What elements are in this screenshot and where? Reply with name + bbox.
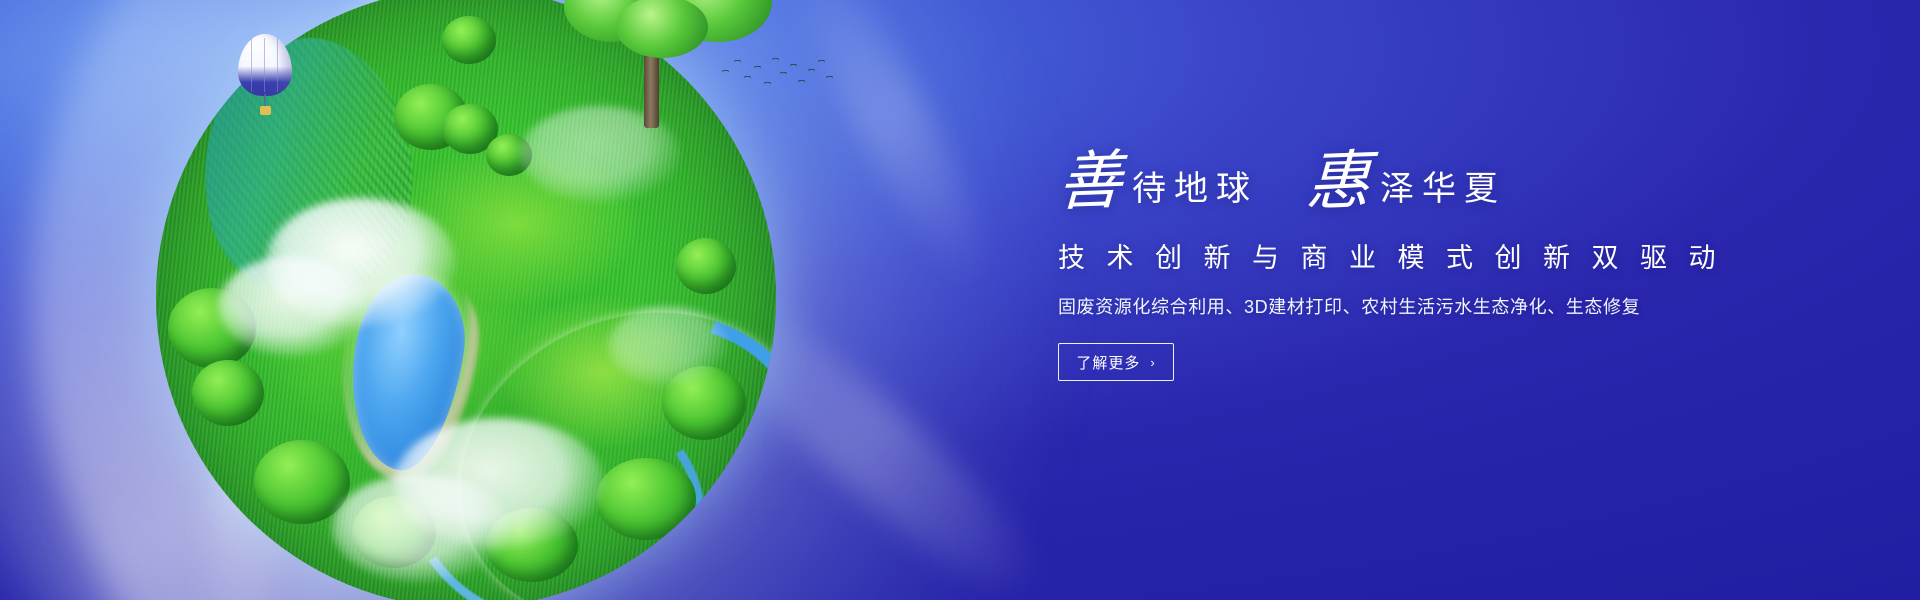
headline-rest-left: 待地球	[1132, 172, 1258, 214]
hero-description: 固废资源化综合利用、3D建材打印、农村生活污水生态净化、生态修复	[1058, 293, 1818, 319]
tree-foliage	[590, 0, 720, 32]
mountain-ridge	[177, 21, 436, 319]
cloud-band	[180, 0, 540, 269]
lake	[337, 267, 474, 477]
cloud-band	[318, 264, 522, 600]
tree-canopy	[192, 360, 264, 426]
tree-canopy	[394, 84, 468, 150]
bird-flock-icon	[718, 52, 838, 100]
surface-cloud	[218, 256, 368, 356]
cloud-band	[194, 0, 446, 561]
page-title: 善 待地球 惠 泽华夏	[1058, 150, 1818, 214]
lake-shore	[326, 255, 490, 491]
surface-cloud	[394, 418, 604, 548]
headline-group-right: 惠 泽华夏	[1306, 150, 1506, 214]
tree-canopy	[486, 508, 578, 582]
tree-trunk	[644, 8, 659, 128]
river	[411, 258, 776, 600]
cloud-band	[770, 0, 1010, 299]
surface-cloud	[608, 306, 728, 386]
river-branch	[380, 347, 732, 600]
chevron-right-icon: ›	[1150, 355, 1155, 370]
balloon-basket	[260, 106, 271, 115]
learn-more-label: 了解更多	[1076, 352, 1140, 373]
sky-glow	[0, 0, 1130, 600]
cloud-band	[191, 117, 329, 600]
tree-canopy	[596, 458, 696, 540]
tree-canopy	[662, 366, 746, 440]
surface-cloud	[266, 198, 456, 326]
tree-canopy	[352, 496, 436, 568]
headline-rest-right: 泽华夏	[1380, 172, 1506, 214]
headline-lead-char-right: 惠	[1305, 149, 1371, 215]
tree-foliage	[664, 0, 772, 42]
surface-cloud	[332, 474, 508, 582]
tree-canopy	[168, 288, 256, 368]
headline-group-left: 善 待地球	[1058, 150, 1258, 214]
tree-canopy	[486, 134, 532, 176]
hero-content: 善 待地球 惠 泽华夏 技 术 创 新 与 商 业 模 式 创 新 双 驱 动 …	[1058, 150, 1818, 381]
tree-foliage	[564, 0, 660, 42]
hot-air-balloon-icon	[238, 34, 292, 118]
surface-cloud	[520, 106, 680, 202]
cloud-band	[158, 0, 482, 416]
tree-foliage	[616, 0, 708, 58]
cloud-swirl-outer	[30, 0, 1110, 600]
tree-canopy	[442, 16, 496, 64]
hero-banner: 善 待地球 惠 泽华夏 技 术 创 新 与 商 业 模 式 创 新 双 驱 动 …	[0, 0, 1920, 600]
cloud-band	[669, 258, 1071, 600]
headline-lead-char-left: 善	[1057, 149, 1123, 215]
balloon-envelope	[238, 34, 292, 96]
learn-more-button[interactable]: 了解更多 ›	[1058, 343, 1174, 381]
tree-canopy	[254, 440, 350, 524]
tree-canopy	[442, 104, 498, 154]
hero-tagline: 技 术 创 新 与 商 业 模 式 创 新 双 驱 动	[1058, 236, 1818, 275]
tree-canopy	[676, 238, 736, 294]
